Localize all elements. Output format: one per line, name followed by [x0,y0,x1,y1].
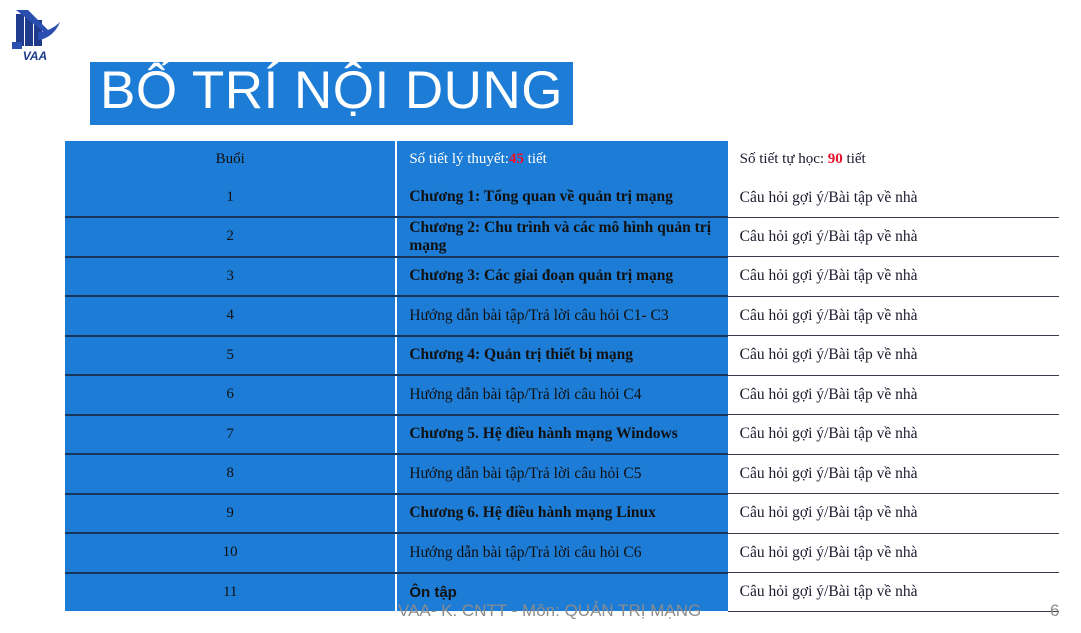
cell-homework: Câu hỏi gợi ý/Bài tập về nhà [728,494,1059,534]
header-cell-theory-hours: Số tiết lý thuyết:45 tiết [396,141,727,179]
cell-topic: Chương 6. Hệ điều hành mạng Linux [396,494,727,534]
table-body: Buổi Số tiết lý thuyết:45 tiết Số tiết t… [65,141,1059,611]
cell-topic: Hướng dẫn bài tập/Trả lời câu hỏi C1- C3 [396,296,727,336]
content-schedule-table: Buổi Số tiết lý thuyết:45 tiết Số tiết t… [65,141,1059,612]
cell-topic: Chương 4: Quản trị thiết bị mạng [396,336,727,376]
cell-homework: Câu hỏi gợi ý/Bài tập về nhà [728,296,1059,336]
table-row: 2Chương 2: Chu trình và các mô hình quản… [65,217,1059,257]
table-header-row: Buổi Số tiết lý thuyết:45 tiết Số tiết t… [65,141,1059,179]
slide-title-banner: BỐ TRÍ NỘI DUNG [90,62,573,125]
header-cell-selfstudy-hours: Số tiết tự học: 90 tiết [728,141,1059,179]
table-row: 6Hướng dẫn bài tập/Trả lời câu hỏi C4Câu… [65,375,1059,415]
cell-homework: Câu hỏi gợi ý/Bài tập về nhà [728,179,1059,218]
theory-hours-suffix: tiết [524,151,547,167]
table-row: 10Hướng dẫn bài tập/Trả lời câu hỏi C6Câ… [65,533,1059,573]
cell-homework: Câu hỏi gợi ý/Bài tập về nhà [728,533,1059,573]
cell-session-number: 7 [65,415,396,455]
page-title: BỐ TRÍ NỘI DUNG [100,64,563,117]
theory-hours-prefix: Số tiết lý thuyết: [409,151,509,167]
vaa-logo: VAA [4,2,66,64]
selfstudy-hours-prefix: Số tiết tự học: [740,151,828,167]
slide-page-number: 6 [1050,601,1059,621]
table-row: 1Chương 1: Tổng quan về quản trị mạngCâu… [65,179,1059,218]
cell-topic: Chương 5. Hệ điều hành mạng Windows [396,415,727,455]
cell-homework: Câu hỏi gợi ý/Bài tập về nhà [728,336,1059,376]
cell-session-number: 9 [65,494,396,534]
cell-topic: Hướng dẫn bài tập/Trả lời câu hỏi C4 [396,375,727,415]
cell-session-number: 2 [65,217,396,257]
cell-topic: Hướng dẫn bài tập/Trả lời câu hỏi C6 [396,533,727,573]
cell-topic: Chương 2: Chu trình và các mô hình quản … [396,217,727,257]
cell-session-number: 10 [65,533,396,573]
cell-session-number: 3 [65,257,396,297]
cell-homework: Câu hỏi gợi ý/Bài tập về nhà [728,375,1059,415]
cell-session-number: 4 [65,296,396,336]
cell-topic: Chương 3: Các giai đoạn quản trị mạng [396,257,727,297]
cell-topic: Hướng dẫn bài tập/Trả lời câu hỏi C5 [396,454,727,494]
table-row: 9Chương 6. Hệ điều hành mạng LinuxCâu hỏ… [65,494,1059,534]
cell-homework: Câu hỏi gợi ý/Bài tập về nhà [728,217,1059,257]
table-row: 7Chương 5. Hệ điều hành mạng WindowsCâu … [65,415,1059,455]
cell-homework: Câu hỏi gợi ý/Bài tập về nhà [728,573,1059,612]
header-cell-session: Buổi [65,141,396,179]
cell-session-number: 6 [65,375,396,415]
cell-homework: Câu hỏi gợi ý/Bài tập về nhà [728,454,1059,494]
vaa-logo-text: VAA [23,49,47,63]
table-row: 5Chương 4: Quản trị thiết bị mạngCâu hỏi… [65,336,1059,376]
selfstudy-hours-value: 90 [828,151,843,167]
cell-homework: Câu hỏi gợi ý/Bài tập về nhà [728,415,1059,455]
table-row: 8Hướng dẫn bài tập/Trả lời câu hỏi C5Câu… [65,454,1059,494]
cell-session-number: 1 [65,179,396,218]
table-row: 4Hướng dẫn bài tập/Trả lời câu hỏi C1- C… [65,296,1059,336]
cell-session-number: 8 [65,454,396,494]
slide-footer: VAA- K. CNTT - Môn: QUẢN TRỊ MẠNG [398,601,701,621]
selfstudy-hours-suffix: tiết [843,151,866,167]
cell-session-number: 11 [65,573,396,612]
cell-session-number: 5 [65,336,396,376]
table-row: 3Chương 3: Các giai đoạn quản trị mạngCâ… [65,257,1059,297]
cell-homework: Câu hỏi gợi ý/Bài tập về nhà [728,257,1059,297]
theory-hours-value: 45 [509,151,524,167]
cell-topic: Chương 1: Tổng quan về quản trị mạng [396,179,727,218]
